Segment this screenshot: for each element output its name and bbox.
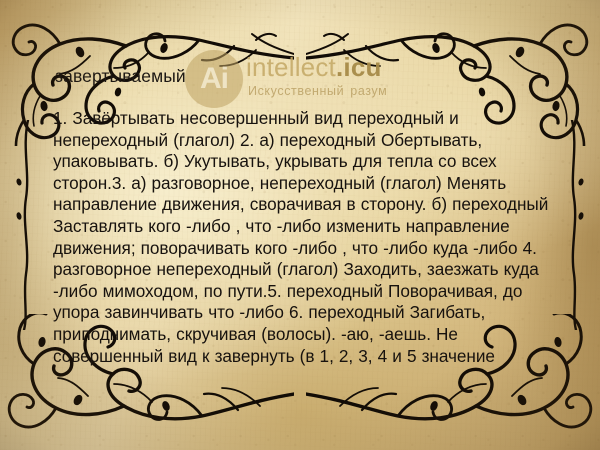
- intellect-icu-watermark: Ai intellect.icu Искусственный разум: [185, 48, 415, 110]
- watermark-title-main: intellect: [246, 52, 336, 82]
- watermark-title: intellect.icu: [246, 52, 382, 83]
- ai-monogram-label: Ai: [200, 64, 228, 94]
- parchment-slide: завертываемый Ai intellect.icu Искусстве…: [0, 0, 600, 450]
- ai-badge-icon: Ai: [185, 50, 243, 108]
- slide-content: завертываемый Ai intellect.icu Искусстве…: [0, 0, 600, 450]
- headword: завертываемый: [55, 66, 186, 87]
- watermark-subtitle: Искусственный разум: [248, 84, 387, 98]
- definition-text: 1. Завёртывать несовершенный вид переход…: [53, 108, 553, 367]
- watermark-title-accent: .icu: [336, 52, 382, 82]
